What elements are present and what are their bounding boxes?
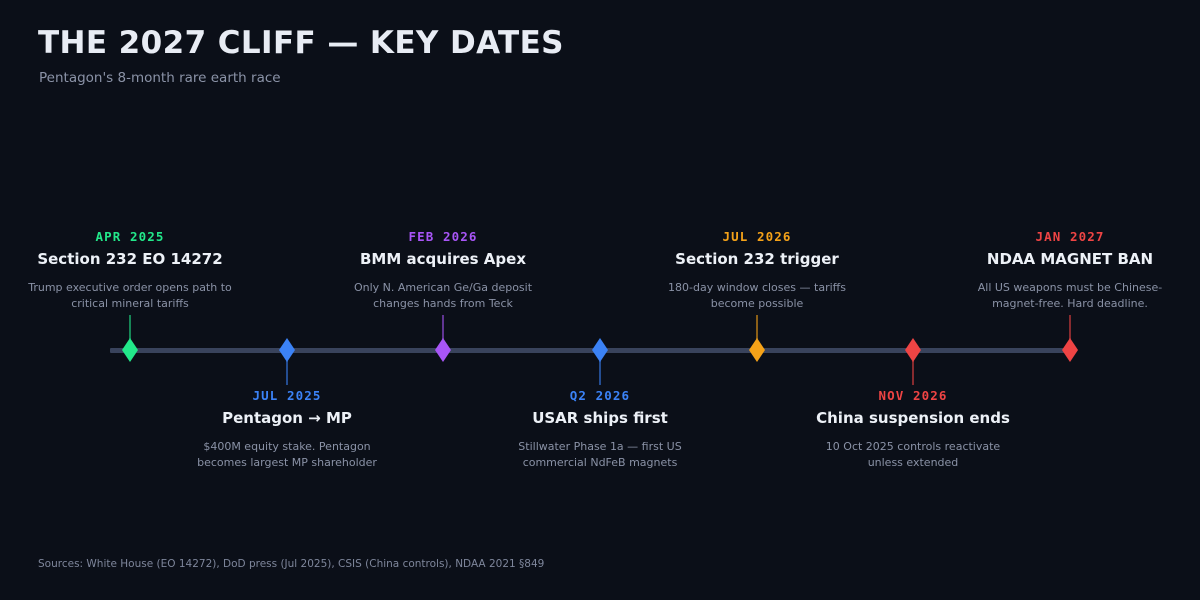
event-date: APR 2025 xyxy=(10,229,250,244)
event-title: Section 232 trigger xyxy=(637,250,877,269)
diamond-marker-icon[interactable] xyxy=(279,338,295,362)
event-title: Pentagon → MP xyxy=(167,409,407,428)
event-label-block: JAN 2027NDAA MAGNET BANAll US weapons mu… xyxy=(950,229,1190,312)
event-description: $400M equity stake. Pentagon becomes lar… xyxy=(167,439,407,471)
event-connector-stem xyxy=(442,315,444,339)
event-date: JAN 2027 xyxy=(950,229,1190,244)
event-date: JUL 2025 xyxy=(167,388,407,403)
diamond-marker-fill xyxy=(592,338,608,362)
event-title: NDAA MAGNET BAN xyxy=(950,250,1190,269)
event-label-block: JUL 2026Section 232 trigger180-day windo… xyxy=(637,229,877,312)
event-title: USAR ships first xyxy=(480,409,720,428)
event-connector-stem xyxy=(756,315,758,339)
event-description: Trump executive order opens path to crit… xyxy=(10,280,250,312)
event-title: BMM acquires Apex xyxy=(323,250,563,269)
event-description: All US weapons must be Chinese-magnet-fr… xyxy=(950,280,1190,312)
diamond-marker-fill xyxy=(905,338,921,362)
event-label-block: APR 2025Section 232 EO 14272Trump execut… xyxy=(10,229,250,312)
diamond-marker-fill xyxy=(435,338,451,362)
event-date: NOV 2026 xyxy=(793,388,1033,403)
event-description: 180-day window closes — tariffs become p… xyxy=(637,280,877,312)
event-label-block: JUL 2025Pentagon → MP$400M equity stake.… xyxy=(167,388,407,471)
diamond-marker-icon[interactable] xyxy=(435,338,451,362)
event-date: Q2 2026 xyxy=(480,388,720,403)
event-date: FEB 2026 xyxy=(323,229,563,244)
event-description: 10 Oct 2025 controls reactivate unless e… xyxy=(793,439,1033,471)
event-connector-stem xyxy=(129,315,131,339)
event-connector-stem xyxy=(912,361,914,385)
event-description: Stillwater Phase 1a — first US commercia… xyxy=(480,439,720,471)
diamond-marker-fill xyxy=(122,338,138,362)
timeline-axis-line xyxy=(110,348,1070,353)
diamond-marker-fill xyxy=(279,338,295,362)
diamond-marker-icon[interactable] xyxy=(1062,338,1078,362)
diamond-marker-icon[interactable] xyxy=(122,338,138,362)
event-connector-stem xyxy=(599,361,601,385)
event-label-block: Q2 2026USAR ships firstStillwater Phase … xyxy=(480,388,720,471)
event-title: China suspension ends xyxy=(793,409,1033,428)
diamond-marker-icon[interactable] xyxy=(592,338,608,362)
event-label-block: NOV 2026China suspension ends10 Oct 2025… xyxy=(793,388,1033,471)
event-connector-stem xyxy=(286,361,288,385)
event-title: Section 232 EO 14272 xyxy=(10,250,250,269)
diamond-marker-fill xyxy=(749,338,765,362)
diamond-marker-fill xyxy=(1062,338,1078,362)
event-date: JUL 2026 xyxy=(637,229,877,244)
sources-note: Sources: White House (EO 14272), DoD pre… xyxy=(38,558,544,572)
event-description: Only N. American Ge/Ga deposit changes h… xyxy=(323,280,563,312)
event-label-block: FEB 2026BMM acquires ApexOnly N. America… xyxy=(323,229,563,312)
timeline-chart: APR 2025Section 232 EO 14272Trump execut… xyxy=(0,0,1200,600)
event-connector-stem xyxy=(1069,315,1071,339)
diamond-marker-icon[interactable] xyxy=(749,338,765,362)
diamond-marker-icon[interactable] xyxy=(905,338,921,362)
